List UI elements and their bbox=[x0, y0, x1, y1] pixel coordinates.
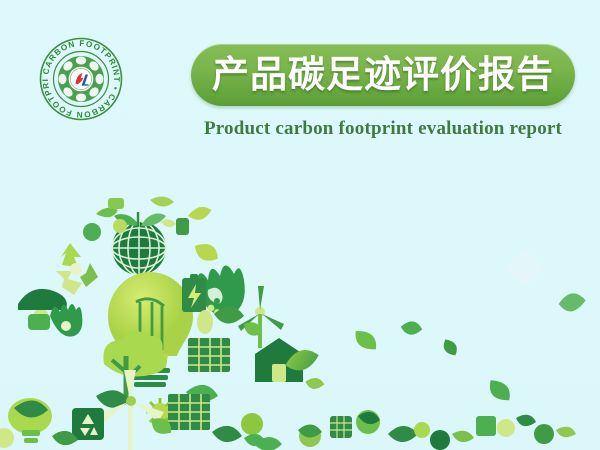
page-subtitle: Product carbon footprint evaluation repo… bbox=[191, 118, 575, 140]
report-title-banner: 产品碳足迹评价报告 bbox=[191, 44, 575, 106]
battery-icon bbox=[182, 274, 206, 312]
hand-icon bbox=[50, 304, 82, 337]
floating-leaves bbox=[149, 204, 588, 436]
tree-icon bbox=[103, 331, 165, 400]
solar-panel-icon-bottom bbox=[168, 394, 210, 430]
recycle-icon-bottom bbox=[72, 408, 104, 440]
solar-panel-icon bbox=[188, 338, 230, 372]
cover-page: CARBON FOOTPRINT • CARBON FOOTPRINT • bbox=[0, 0, 600, 450]
recycle-icon bbox=[56, 243, 98, 295]
eco-footprint-illustration bbox=[0, 186, 600, 450]
icon-cluster-trail bbox=[254, 410, 576, 450]
wind-turbine-icon bbox=[238, 286, 284, 348]
carbon-footprint-seal: CARBON FOOTPRINT • CARBON FOOTPRINT • bbox=[38, 36, 124, 122]
page-title: 产品碳足迹评价报告 bbox=[212, 56, 554, 95]
